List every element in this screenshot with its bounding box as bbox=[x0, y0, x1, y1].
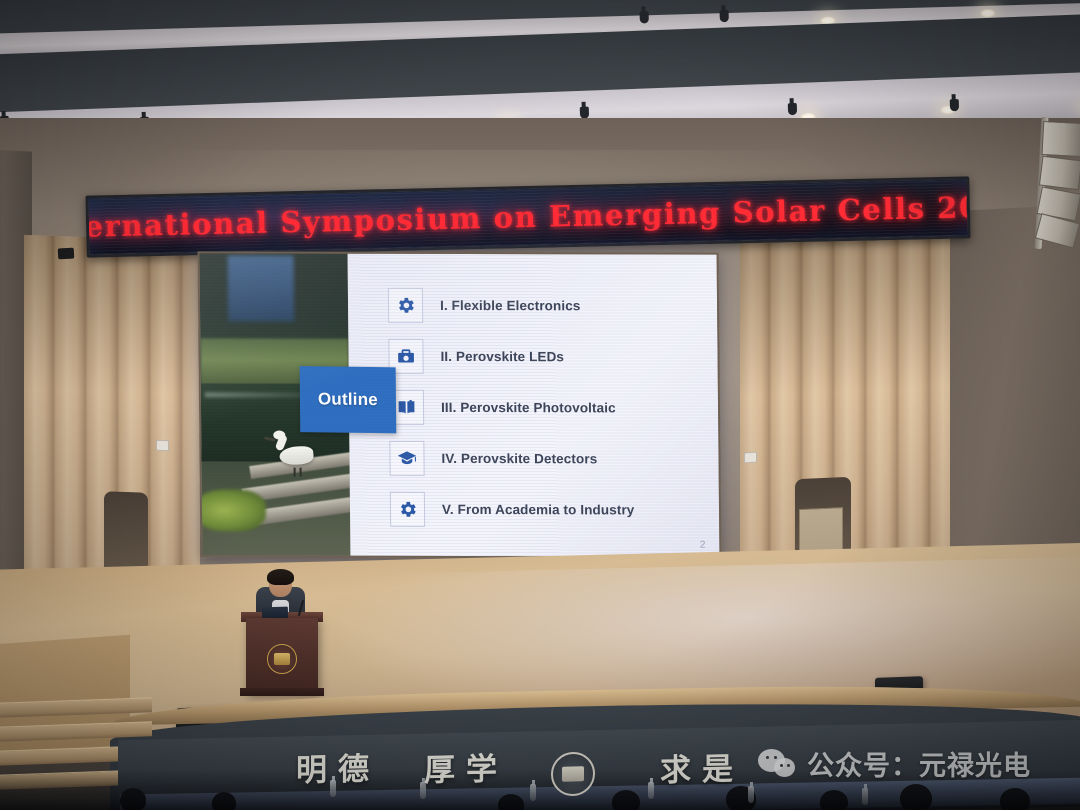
outline-item-label: V. From Academia to Industry bbox=[442, 502, 635, 518]
stage-step bbox=[0, 721, 152, 742]
motto-char-3: 求是 bbox=[660, 743, 744, 790]
outline-badge-label: Outline bbox=[318, 389, 378, 410]
wechat-icon bbox=[758, 747, 798, 780]
outline-item-label: IV. Perovskite Detectors bbox=[441, 451, 597, 466]
slide-page-number: 2 bbox=[700, 540, 706, 551]
wall-speaker-left bbox=[58, 248, 75, 260]
ceiling-spotlight bbox=[950, 99, 959, 111]
slide-content-area: I. Flexible Electronics II. Perovskite L… bbox=[348, 254, 720, 557]
outline-item-1: I. Flexible Electronics bbox=[388, 280, 702, 332]
watermark-text: 公众号：元禄光电 bbox=[807, 744, 1031, 783]
photo-blue-structure bbox=[228, 255, 295, 321]
photo-foliage bbox=[200, 489, 267, 531]
outline-item-2: II. Perovskite LEDs bbox=[388, 331, 702, 383]
egret-leg bbox=[300, 468, 302, 477]
graduation-cap-icon bbox=[389, 441, 424, 476]
ceiling-spotlight bbox=[788, 103, 797, 115]
ceiling-spotlight bbox=[720, 10, 729, 22]
outline-item-label: III. Perovskite Photovoltaic bbox=[441, 400, 616, 415]
podium-base bbox=[240, 688, 324, 696]
gear-icon bbox=[388, 288, 423, 323]
presenter-hair bbox=[267, 569, 294, 585]
projection-screen: I. Flexible Electronics II. Perovskite L… bbox=[198, 251, 722, 558]
motto-char-1: 明德 bbox=[296, 743, 380, 790]
wechat-eye bbox=[774, 756, 777, 759]
line-array-speaker bbox=[1037, 117, 1080, 251]
ceiling-spotlight bbox=[640, 11, 649, 23]
outline-item-label: I. Flexible Electronics bbox=[440, 298, 581, 313]
wechat-eye bbox=[780, 764, 783, 767]
wall-switch-plate bbox=[156, 440, 169, 451]
wechat-bubble-small bbox=[774, 758, 795, 777]
gear-icon bbox=[390, 492, 425, 527]
podium bbox=[246, 618, 318, 694]
wechat-watermark: 公众号：元禄光电 bbox=[758, 744, 1031, 783]
wechat-eye bbox=[787, 764, 790, 767]
motto-char-2: 厚学 bbox=[424, 743, 508, 790]
outline-badge: Outline bbox=[300, 366, 397, 433]
outline-item-4: IV. Perovskite Detectors bbox=[389, 433, 703, 485]
university-emblem bbox=[267, 644, 297, 674]
wechat-eye bbox=[766, 756, 769, 759]
led-banner-text: International Symposium on Emerging Sola… bbox=[85, 189, 970, 245]
outline-item-5: V. From Academia to Industry bbox=[390, 484, 704, 536]
ceiling-downlight bbox=[980, 9, 996, 18]
outline-item-3: III. Perovskite Photovoltaic bbox=[389, 382, 703, 434]
speaker-module bbox=[1039, 156, 1080, 191]
wall-switch-plate bbox=[744, 452, 757, 464]
outline-item-label: II. Perovskite LEDs bbox=[440, 349, 564, 364]
outline-list: I. Flexible Electronics II. Perovskite L… bbox=[388, 280, 703, 536]
egret-leg bbox=[294, 468, 296, 477]
auditorium-photo: International Symposium on Emerging Sola… bbox=[0, 0, 1080, 810]
speaker-module bbox=[1041, 121, 1080, 157]
